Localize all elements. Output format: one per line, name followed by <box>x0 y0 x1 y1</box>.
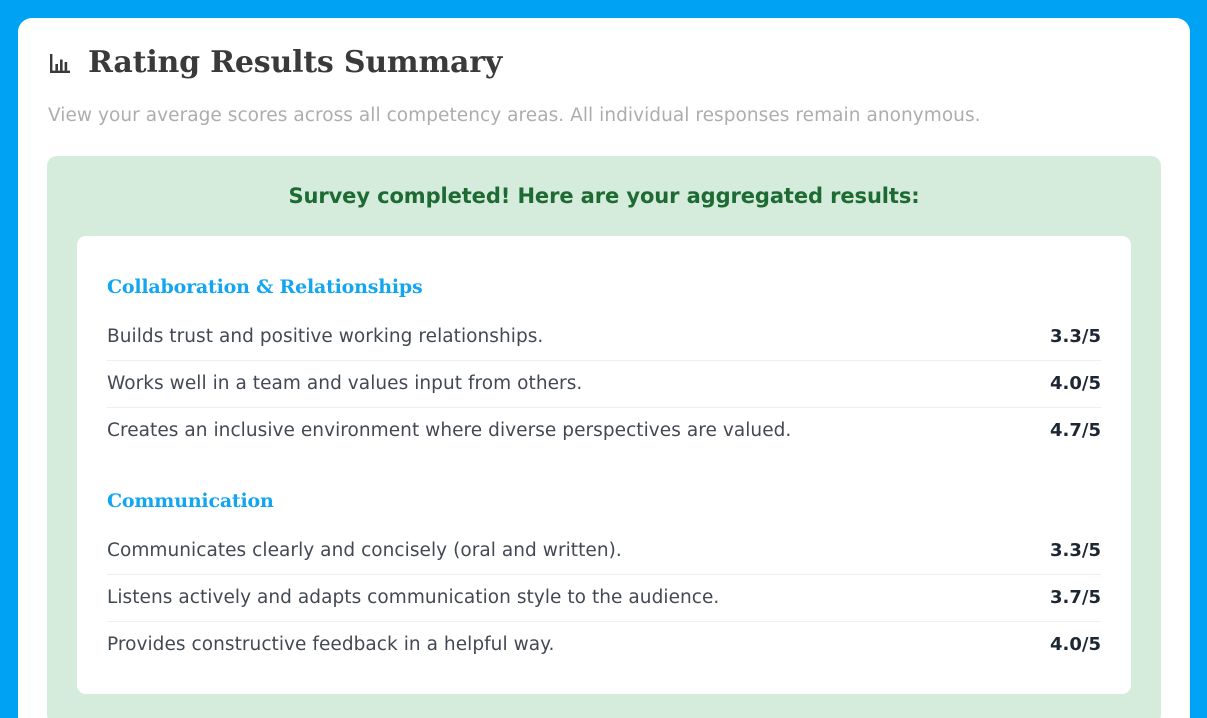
rating-label: Creates an inclusive environment where d… <box>107 420 791 441</box>
rating-score: 4.0/5 <box>1030 634 1101 655</box>
rating-label: Works well in a team and values input fr… <box>107 373 582 394</box>
rating-row: Builds trust and positive working relati… <box>107 314 1101 361</box>
rating-row: Creates an inclusive environment where d… <box>107 408 1101 454</box>
competency-section: Communication Communicates clearly and c… <box>107 456 1101 668</box>
page-title: Rating Results Summary <box>88 46 502 81</box>
section-title-collaboration: Collaboration & Relationships <box>107 262 1101 314</box>
rating-score: 4.0/5 <box>1030 373 1101 394</box>
page-card: Rating Results Summary View your average… <box>18 18 1190 718</box>
rating-row: Works well in a team and values input fr… <box>107 361 1101 408</box>
rating-score: 3.7/5 <box>1030 587 1101 608</box>
results-card: Collaboration & Relationships Builds tru… <box>77 236 1131 694</box>
page-subtitle: View your average scores across all comp… <box>48 105 1160 126</box>
completion-heading: Survey completed! Here are your aggregat… <box>77 184 1131 208</box>
results-panel: Survey completed! Here are your aggregat… <box>47 156 1161 718</box>
title-row: Rating Results Summary <box>48 46 1160 81</box>
competency-section: Collaboration & Relationships Builds tru… <box>107 262 1101 454</box>
section-title-communication: Communication <box>107 456 1101 528</box>
rating-score: 3.3/5 <box>1030 326 1101 347</box>
rating-row: Provides constructive feedback in a help… <box>107 622 1101 668</box>
bar-chart-icon <box>48 51 74 77</box>
page-header: Rating Results Summary View your average… <box>18 18 1190 126</box>
rating-score: 4.7/5 <box>1030 420 1101 441</box>
rating-row: Listens actively and adapts communicatio… <box>107 575 1101 622</box>
rating-label: Builds trust and positive working relati… <box>107 326 543 347</box>
rating-row: Communicates clearly and concisely (oral… <box>107 528 1101 575</box>
rating-label: Listens actively and adapts communicatio… <box>107 587 719 608</box>
rating-label: Provides constructive feedback in a help… <box>107 634 554 655</box>
rating-label: Communicates clearly and concisely (oral… <box>107 540 622 561</box>
rating-score: 3.3/5 <box>1030 540 1101 561</box>
